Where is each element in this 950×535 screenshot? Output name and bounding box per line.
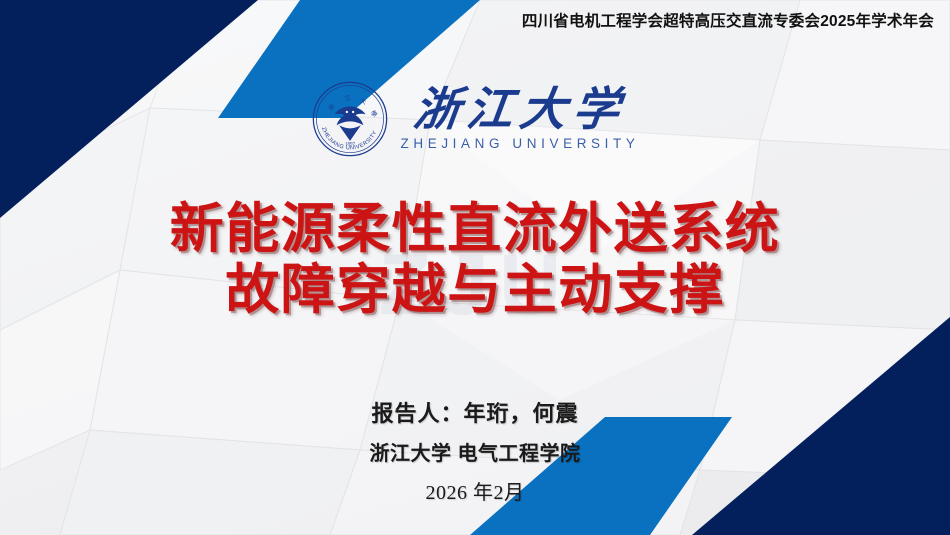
zhejiang-university-seal-icon: ZHEJIANG UNIVERSITY 1897 浙 江 大 學 [311, 80, 389, 158]
svg-text:大: 大 [358, 97, 366, 106]
conference-banner-title: 四川省电机工程学会超特高压交直流专委会2025年学术年会 [522, 9, 934, 31]
svg-text:學: 學 [368, 109, 378, 119]
university-wordmark: 浙江大学 ZHEJIANG UNIVERSITY [401, 87, 640, 151]
svg-text:1897: 1897 [344, 142, 355, 148]
title-line-1: 新能源柔性直流外送系统 [0, 199, 950, 260]
title-line-2: 故障穿越与主动支撑 [0, 260, 950, 321]
presenter-info-block: 报告人：年珩，何震 浙江大学 电气工程学院 2026 年2月 [0, 400, 950, 506]
presentation-title-slide: 四川省电机工程学会超特高压交直流专委会2025年学术年会 ZJU ZHEJIAN… [0, 0, 950, 535]
university-wordmark-cn: 浙江大学 [411, 87, 629, 133]
presenter-affiliation: 浙江大学 电气工程学院 [0, 442, 950, 467]
university-wordmark-en: ZHEJIANG UNIVERSITY [401, 136, 640, 151]
university-logo: ZHEJIANG UNIVERSITY 1897 浙 江 大 學 浙江大学 ZH… [0, 80, 950, 158]
svg-text:江: 江 [343, 95, 351, 103]
presentation-date: 2026 年2月 [0, 481, 950, 506]
svg-text:浙: 浙 [326, 103, 336, 113]
slide-main-title: 新能源柔性直流外送系统 故障穿越与主动支撑 [0, 199, 950, 321]
presenter-names: 报告人：年珩，何震 [0, 400, 950, 428]
